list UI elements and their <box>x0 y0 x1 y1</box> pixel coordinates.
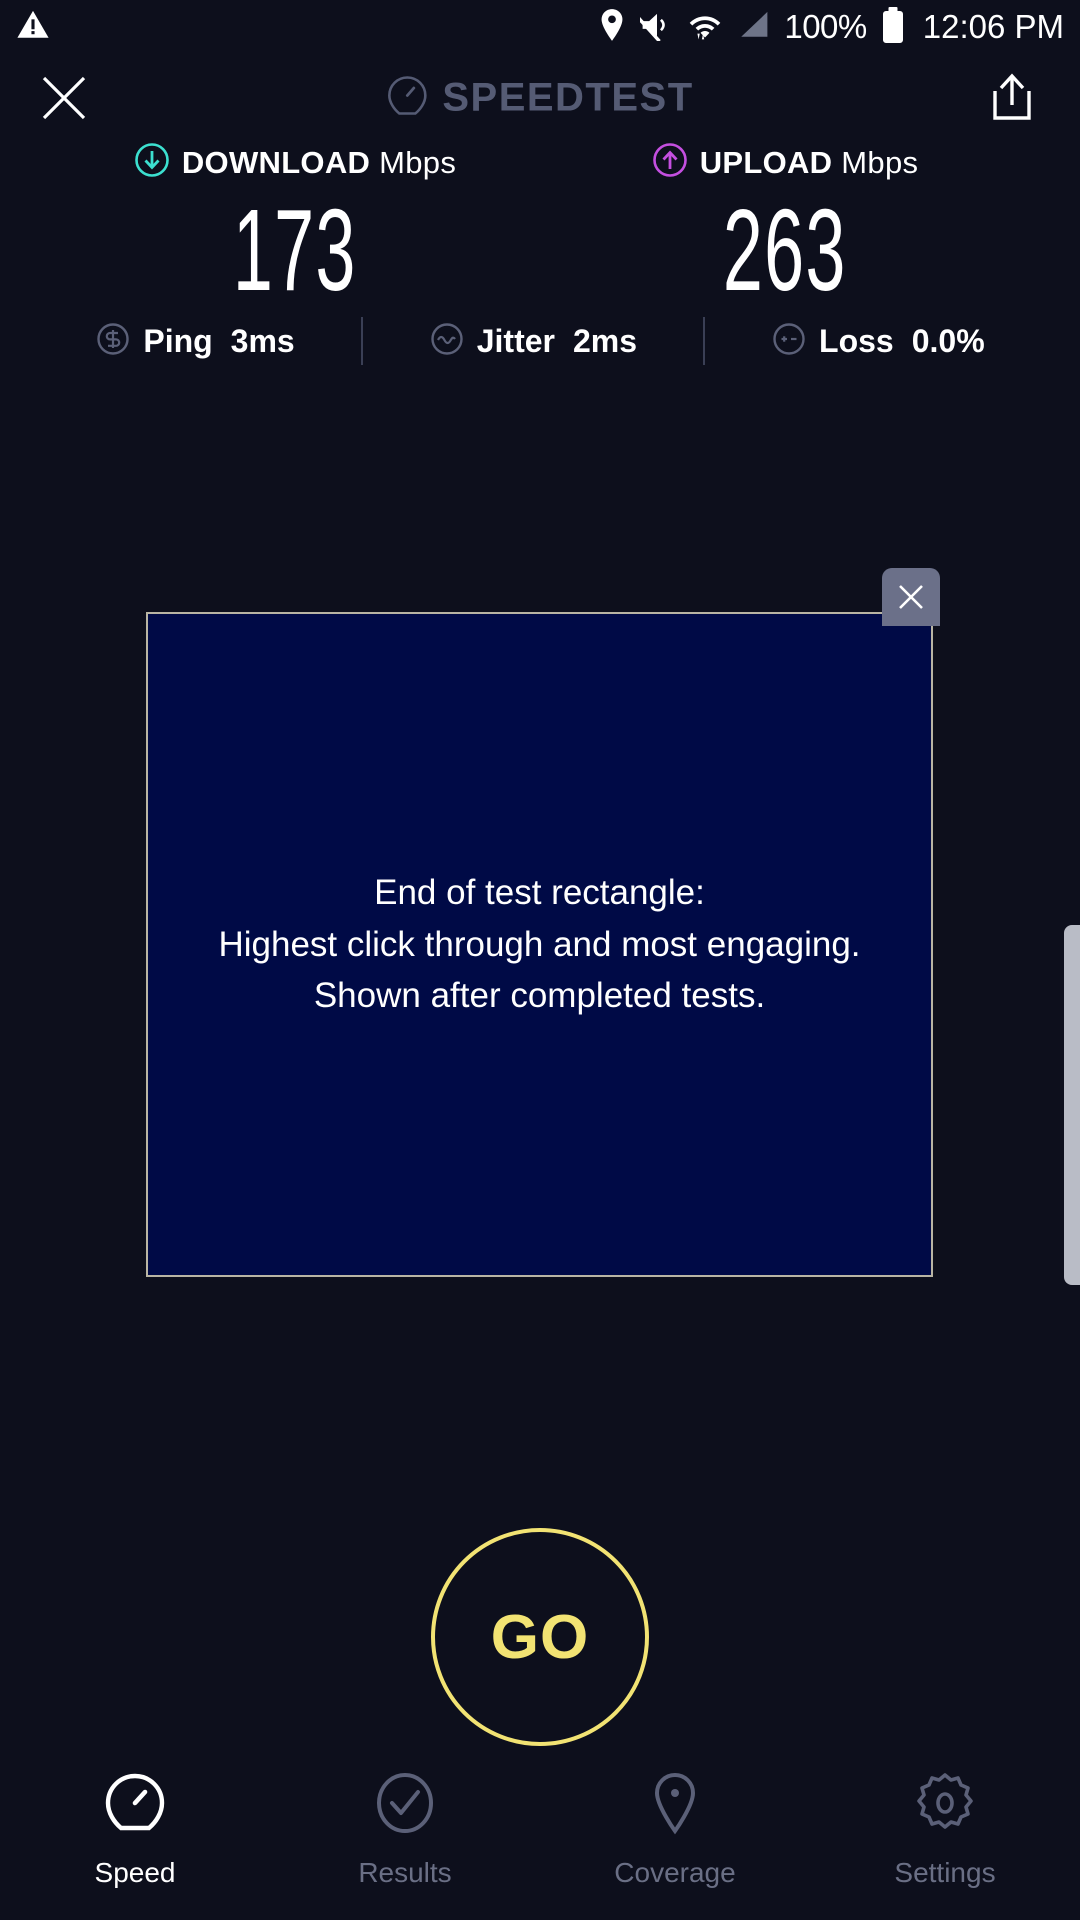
speedtest-app-screen: 100% 12:06 PM SPEEDTEST <box>0 0 1080 1920</box>
share-icon[interactable] <box>986 71 1038 125</box>
nav-label-speed: Speed <box>95 1857 176 1889</box>
nav-label-coverage: Coverage <box>614 1857 735 1889</box>
bottom-navigation: Speed Results Coverage <box>0 1760 1080 1920</box>
go-button[interactable]: GO <box>431 1528 649 1746</box>
nav-label-results: Results <box>358 1857 451 1889</box>
nav-item-speed[interactable]: Speed <box>0 1770 270 1889</box>
loss-metric: Loss 0.0% <box>771 321 985 362</box>
download-header: DOWNLOAD Mbps <box>134 142 456 183</box>
mute-icon <box>640 9 674 46</box>
download-label: DOWNLOAD Mbps <box>182 145 456 181</box>
download-metric: DOWNLOAD Mbps 173 <box>95 142 495 305</box>
battery-full-icon <box>883 11 903 43</box>
download-arrow-icon <box>134 142 170 183</box>
check-circle-icon <box>372 1770 438 1841</box>
divider-1 <box>361 317 363 365</box>
jitter-metric: Jitter 2ms <box>429 321 637 362</box>
loss-value: 0.0% <box>912 323 985 360</box>
wifi-icon <box>688 8 722 47</box>
ad-text: End of test rectangle: Highest click thr… <box>198 867 880 1022</box>
location-pin-icon <box>598 8 626 47</box>
upload-header: UPLOAD Mbps <box>652 142 919 183</box>
nav-label-settings: Settings <box>894 1857 995 1889</box>
brand: SPEEDTEST <box>386 75 693 122</box>
loss-icon <box>771 321 807 362</box>
ping-metric: Ping 3ms <box>95 321 294 362</box>
advertisement-banner[interactable]: End of test rectangle: Highest click thr… <box>146 612 933 1277</box>
ad-line-2: Highest click through and most engaging. <box>218 919 860 971</box>
nav-item-coverage[interactable]: Coverage <box>540 1770 810 1889</box>
ping-jitter-loss-row: Ping 3ms Jitter 2ms <box>0 317 1080 365</box>
close-icon[interactable] <box>38 72 90 124</box>
scrollbar-thumb[interactable] <box>1064 925 1080 1285</box>
app-header: SPEEDTEST <box>0 56 1080 140</box>
gear-icon <box>912 1770 978 1841</box>
upload-label: UPLOAD Mbps <box>700 145 919 181</box>
nav-item-results[interactable]: Results <box>270 1770 540 1889</box>
brand-title: SPEEDTEST <box>442 76 693 121</box>
jitter-value: 2ms <box>573 323 637 360</box>
download-value: 173 <box>233 195 357 305</box>
upload-arrow-icon <box>652 142 688 183</box>
speedometer-icon <box>386 75 428 122</box>
loss-label: Loss <box>819 323 894 360</box>
ping-icon <box>95 321 131 362</box>
jitter-icon <box>429 321 465 362</box>
ad-line-1: End of test rectangle: <box>218 867 860 919</box>
warning-triangle-icon <box>16 8 50 47</box>
status-bar: 100% 12:06 PM <box>0 0 1080 54</box>
speedometer-icon <box>102 1770 168 1841</box>
upload-metric: UPLOAD Mbps 263 <box>585 142 985 305</box>
close-icon <box>894 580 928 614</box>
cellular-signal-icon <box>736 9 770 46</box>
nav-item-settings[interactable]: Settings <box>810 1770 1080 1889</box>
download-upload-row: DOWNLOAD Mbps 173 UPLOAD Mbps 263 <box>0 142 1080 305</box>
divider-2 <box>703 317 705 365</box>
battery-percent-label: 100% <box>784 8 866 46</box>
ping-label: Ping <box>143 323 212 360</box>
status-bar-left <box>16 8 50 47</box>
upload-value: 263 <box>723 195 847 305</box>
ping-value: 3ms <box>231 323 295 360</box>
clock-label: 12:06 PM <box>923 8 1064 46</box>
jitter-label: Jitter <box>477 323 555 360</box>
results-panel: DOWNLOAD Mbps 173 UPLOAD Mbps 263 <box>0 142 1080 305</box>
go-button-label: GO <box>491 1602 589 1673</box>
ad-close-button[interactable] <box>882 568 940 626</box>
location-pin-icon <box>642 1770 708 1841</box>
status-bar-right: 100% 12:06 PM <box>598 8 1064 47</box>
ad-line-3: Shown after completed tests. <box>218 970 860 1022</box>
